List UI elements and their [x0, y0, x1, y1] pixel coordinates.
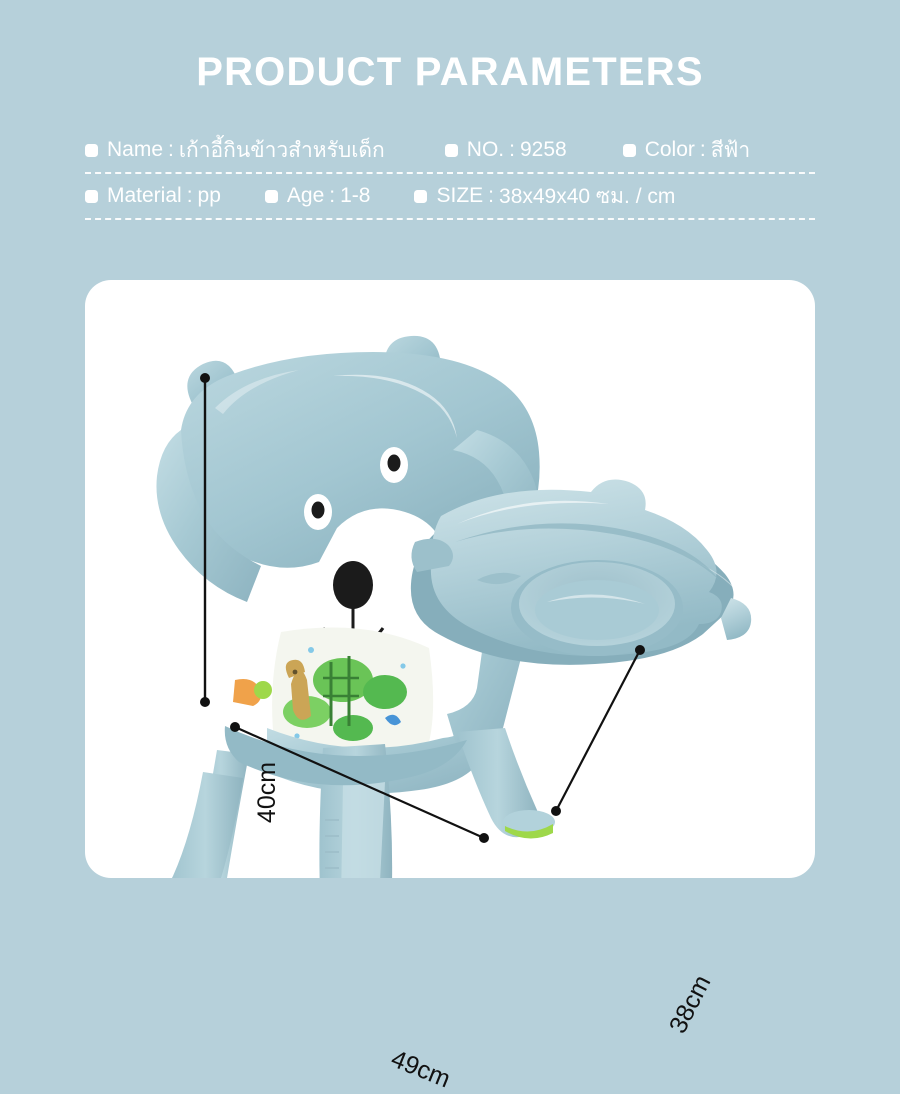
spec-separator: :: [163, 138, 179, 162]
spec-divider: [85, 218, 815, 220]
square-bullet-icon: [85, 190, 98, 203]
spec-separator: :: [182, 184, 198, 208]
specifications-block: Name : เก้าอี้กินข้าวสำหรับเด็ก NO. : 92…: [85, 128, 815, 220]
spec-key: Name: [107, 138, 163, 162]
spec-item-material: Material : pp: [85, 184, 221, 208]
dimension-lines-overlay: [85, 280, 815, 878]
dimension-line-depth: [551, 645, 645, 816]
spec-value: pp: [198, 184, 221, 208]
spec-value: 1-8: [340, 184, 370, 208]
square-bullet-icon: [414, 190, 427, 203]
square-bullet-icon: [85, 144, 98, 157]
spec-item-no: NO. : 9258: [445, 138, 567, 162]
spec-separator: :: [483, 184, 499, 208]
spec-separator: :: [695, 138, 711, 162]
spec-separator: :: [504, 138, 520, 162]
spec-key: Age: [287, 184, 324, 208]
spec-key: Color: [645, 138, 695, 162]
spec-row: Material : pp Age : 1-8 SIZE : 38x49x40 …: [85, 174, 815, 218]
square-bullet-icon: [265, 190, 278, 203]
spec-value: 9258: [520, 138, 567, 162]
spec-item-name: Name : เก้าอี้กินข้าวสำหรับเด็ก: [85, 134, 385, 167]
spec-value: 38x49x40 ซม. / cm: [499, 180, 675, 213]
spec-value: สีฟ้า: [711, 134, 750, 167]
spec-divider: [85, 172, 815, 174]
dimension-label-height: 40cm: [253, 762, 282, 823]
spec-key: NO.: [467, 138, 504, 162]
spec-key: Material: [107, 184, 182, 208]
product-image-card: 40cm 49cm 38cm: [85, 280, 815, 878]
dimension-line-height: [200, 373, 210, 707]
dimension-label-width: 49cm: [387, 1045, 455, 1094]
square-bullet-icon: [623, 144, 636, 157]
square-bullet-icon: [445, 144, 458, 157]
spec-value: เก้าอี้กินข้าวสำหรับเด็ก: [179, 134, 385, 167]
spec-separator: :: [324, 184, 340, 208]
spec-item-age: Age : 1-8: [265, 184, 371, 208]
spec-key: SIZE: [436, 184, 483, 208]
spec-row: Name : เก้าอี้กินข้าวสำหรับเด็ก NO. : 92…: [85, 128, 815, 172]
spec-item-color: Color : สีฟ้า: [623, 134, 751, 167]
page-title: PRODUCT PARAMETERS: [0, 48, 900, 96]
spec-item-size: SIZE : 38x49x40 ซม. / cm: [414, 180, 675, 213]
dimension-label-depth: 38cm: [664, 971, 718, 1039]
